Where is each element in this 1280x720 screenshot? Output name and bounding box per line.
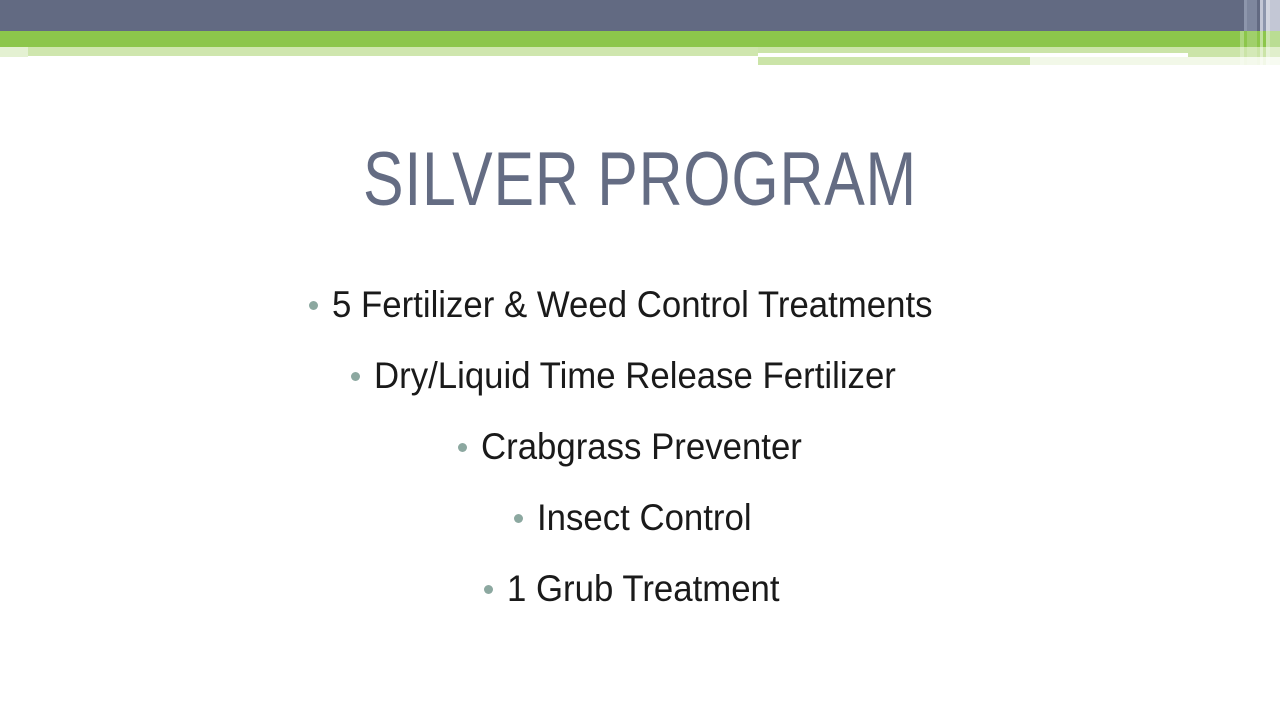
bullet-text: Crabgrass Preventer — [481, 428, 802, 465]
list-item: Crabgrass Preventer — [0, 428, 1280, 499]
list-item: 1 Grub Treatment — [0, 570, 1280, 641]
list-item: 5 Fertilizer & Weed Control Treatments — [0, 286, 1280, 357]
bullet-text: Insect Control — [537, 499, 752, 536]
accent-stripe-green-3 — [1260, 31, 1263, 70]
slide-title: SILVER PROGRAM — [128, 142, 1152, 218]
list-item: Insect Control — [0, 499, 1280, 570]
accent-stripe-green-2 — [1247, 31, 1257, 70]
accent-stripe-green-5 — [1270, 31, 1280, 70]
bullet-dot-icon — [309, 301, 318, 310]
accent-stripe-green-1 — [1240, 31, 1244, 70]
bullet-dot-icon — [514, 514, 523, 523]
bullet-text: 5 Fertilizer & Weed Control Treatments — [332, 286, 932, 323]
header-white-notch — [0, 56, 758, 70]
list-item: Dry/Liquid Time Release Fertilizer — [0, 357, 1280, 428]
bullet-dot-icon — [484, 585, 493, 594]
header-left-tint — [0, 47, 28, 57]
accent-stripe-8 — [1270, 0, 1280, 31]
bullet-text: Dry/Liquid Time Release Fertilizer — [374, 357, 896, 394]
slide-canvas: SILVER PROGRAM 5 Fertilizer & Weed Contr… — [0, 0, 1280, 720]
header-right-lower-block — [758, 57, 1030, 65]
header-green-bar — [0, 31, 1280, 47]
bullet-dot-icon — [458, 443, 467, 452]
accent-stripe-3 — [1247, 0, 1257, 31]
decorative-header-banner — [0, 0, 1280, 70]
bullet-text: 1 Grub Treatment — [507, 570, 780, 607]
bullet-dot-icon — [351, 372, 360, 381]
header-slate-bar — [0, 0, 1280, 31]
bullet-list: 5 Fertilizer & Weed Control Treatments D… — [0, 286, 1280, 641]
